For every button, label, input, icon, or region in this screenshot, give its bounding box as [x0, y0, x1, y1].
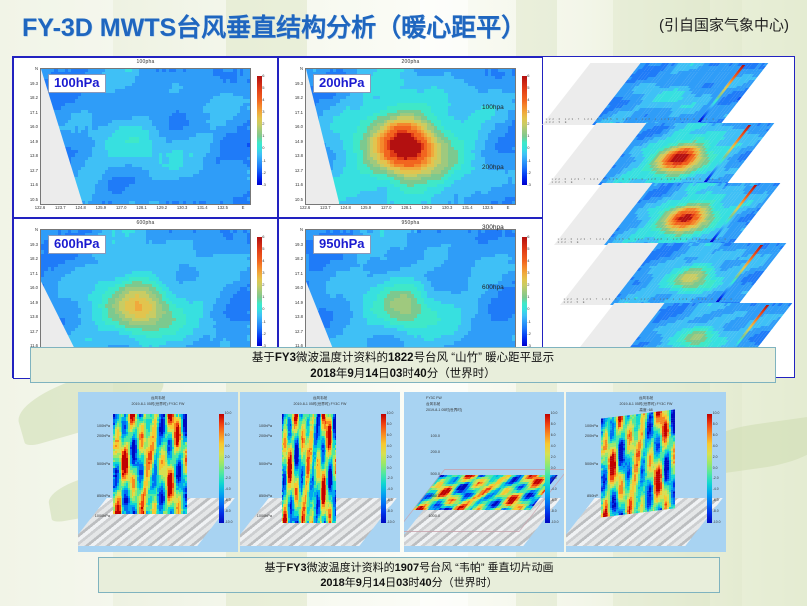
panel-colorbar-tick: 2.0 — [225, 455, 230, 459]
stack-level-label: 100hpa — [482, 104, 504, 111]
y-axis-tick: 16.0 — [281, 285, 303, 290]
data-slice-sheet — [282, 414, 336, 523]
panel-heading-line: FY3C FW — [426, 396, 564, 401]
y-axis-tick: N — [281, 66, 303, 71]
colorbar-tick: -1 — [527, 158, 531, 163]
panel-colorbar-tick: -4.0 — [387, 487, 393, 491]
y-axis-tick: 12.7 — [16, 168, 38, 173]
panel-colorbar-tick: 0.0 — [387, 466, 392, 470]
data-slice-sheet — [113, 414, 187, 513]
page-title: FY-3D MWTS台风垂直结构分析（暖心距平） — [22, 8, 526, 44]
x-axis-tick: 125.9 — [92, 205, 110, 210]
colorbar-tick: 2 — [262, 121, 264, 126]
pressure-level-label: 200hPa — [568, 434, 598, 438]
panel-colorbar-tick: 10.0 — [551, 411, 558, 415]
y-axis-tick: 19.3 — [16, 242, 38, 247]
panel-colorbar-tick: -10.0 — [225, 520, 233, 524]
colorbar-tick: -2 — [527, 170, 531, 175]
caption-emph: 9 — [347, 368, 353, 380]
level-label-100hpa: 100hPa — [48, 74, 106, 93]
colorbar-tick: 1 — [527, 133, 529, 138]
panel-colorbar-tick: 4.0 — [551, 444, 556, 448]
y-axis-tick: 18.2 — [16, 95, 38, 100]
colorbar-gradient — [257, 76, 262, 185]
x-axis-tick: 131.4 — [193, 205, 211, 210]
colorbar-tick: 2 — [262, 282, 264, 287]
y-axis-tick: 14.9 — [281, 300, 303, 305]
caption-line-1: 基于FY3微波温度计资料的1822号台风 “山竹” 暖心距平显示 — [31, 351, 775, 367]
colorbar-tick: 6 — [527, 234, 529, 239]
caption-emph: 14 — [365, 368, 378, 380]
colorbar-tick: 5 — [262, 246, 264, 251]
pressure-level-label: 500hPa — [80, 462, 110, 466]
panel-colorbar-tick: 0.0 — [713, 466, 718, 470]
panel-heading-line: 台风韦帕 — [78, 396, 238, 401]
level-slab-2: 122.6 123.7 124.8 125.9 127.0 128.1 129.… — [554, 183, 732, 245]
panel-colorbar-tick: 0.0 — [551, 466, 556, 470]
panel-colorbar-tick: -10.0 — [551, 520, 559, 524]
stacked-3d-levels: 122.6 123.7 124.8 125.9 127.0 128.1 129.… — [534, 59, 792, 375]
x-axis-tick: 132.5 — [479, 205, 497, 210]
y-axis-tick: N — [281, 227, 303, 232]
caption-text: 号台风 “韦帕” 垂直切片动画 — [419, 562, 553, 574]
panel-colorbar-tick: 10.0 — [225, 411, 232, 415]
stack-level-label: 300hpa — [482, 224, 504, 231]
panel-colorbar-tick: -6.0 — [713, 498, 719, 502]
panel-heading-line: 2019-8-1 05时(世界时) FY3C FW — [566, 402, 726, 407]
panel-colorbar-tick: -10.0 — [713, 520, 721, 524]
pressure-level-label: 100hPa — [242, 424, 272, 428]
panel-colorbar: 10.08.06.04.02.00.0-2.0-4.0-6.0-8.0-10.0 — [545, 414, 550, 523]
panel-heading-line: 台风韦帕 — [426, 402, 564, 407]
y-axis-tick: 19.3 — [281, 242, 303, 247]
caption-line-2: 2018年9月14日03时40分（世界时） — [99, 576, 719, 591]
colorbar-tick: -2 — [262, 331, 266, 336]
level-label-600hpa: 600hPa — [48, 235, 106, 254]
panel-colorbar-tick: -6.0 — [551, 498, 557, 502]
pressure-level-label: 200hPa — [80, 434, 110, 438]
colorbar-tick: 0 — [527, 145, 529, 150]
vertical-slice-panel-4: 台风韦帕2019-8-1 05时(世界时) FY3C FW高度: 68100hP… — [566, 392, 726, 552]
panel-colorbar-tick: 6.0 — [551, 433, 556, 437]
panel-colorbar-tick: 6.0 — [387, 433, 392, 437]
x-axis-tick: 123.7 — [316, 205, 334, 210]
x-axis-tick: 127.0 — [377, 205, 395, 210]
y-axis-tick: 18.2 — [281, 95, 303, 100]
y-axis-tick: 17.1 — [281, 271, 303, 276]
caption-emph: 03 — [390, 368, 403, 380]
colorbar-tick: 5 — [262, 85, 264, 90]
colorbar-tick: 4 — [262, 97, 264, 102]
y-axis-tick: 17.1 — [281, 110, 303, 115]
stack-level-label: 200hpa — [482, 164, 504, 171]
y-axis-tick: 16.0 — [16, 285, 38, 290]
x-axis-tick: 130.3 — [173, 205, 191, 210]
panel-colorbar-tick: 8.0 — [713, 422, 718, 426]
y-axis-tick: 13.8 — [16, 314, 38, 319]
panel-colorbar: 10.08.06.04.02.00.0-2.0-4.0-6.0-8.0-10.0 — [707, 414, 712, 523]
panel-colorbar-tick: -6.0 — [387, 498, 393, 502]
x-axis-tick: 129.2 — [418, 205, 436, 210]
caption-emph: 14 — [373, 577, 385, 589]
x-axis-tick: 130.3 — [438, 205, 456, 210]
panel-colorbar-tick: -4.0 — [551, 487, 557, 491]
y-axis-tick: 18.2 — [16, 256, 38, 261]
caption-emph: 03 — [396, 577, 408, 589]
x-axis-tick: 124.8 — [72, 205, 90, 210]
x-axis-tick: 125.9 — [357, 205, 375, 210]
header: FY-3D MWTS台风垂直结构分析（暖心距平） (引自国家气象中心) — [0, 0, 807, 52]
colorbar: 6543210-1-2-3 — [257, 237, 262, 346]
panel-colorbar-tick: -2.0 — [551, 476, 557, 480]
y-axis-tick: 17.1 — [16, 271, 38, 276]
pressure-level-label: 100hPa — [568, 424, 598, 428]
y-axis-tick: 13.8 — [16, 153, 38, 158]
colorbar-gradient — [257, 237, 262, 346]
caption-text: （世界时） — [443, 577, 498, 589]
y-axis-tick: 10.5 — [16, 197, 38, 202]
panel-colorbar-tick: -6.0 — [225, 498, 231, 502]
colorbar: 6543210-1-2-3 — [257, 76, 262, 185]
x-axis-tick: 132.5 — [214, 205, 232, 210]
pressure-level-label: 850hPa — [80, 494, 110, 498]
panel-colorbar-tick: 4.0 — [713, 444, 718, 448]
caption-emph: 1907 — [395, 562, 419, 574]
caption-emph: 2018 — [320, 577, 344, 589]
data-slice-sheet — [601, 410, 675, 518]
colorbar-tick: 3 — [262, 270, 264, 275]
panel-colorbar-tick: 10.0 — [713, 411, 720, 415]
level-slab-1: 122.6 123.7 124.8 125.9 127.0 128.1 129.… — [548, 123, 726, 185]
pressure-level-label: 500hPa — [568, 462, 598, 466]
pressure-level-label: 500hPa — [242, 462, 272, 466]
y-axis-tick: 19.3 — [281, 81, 303, 86]
panel-chart-title: 600pha — [14, 220, 277, 226]
y-axis-tick: N — [16, 227, 38, 232]
x-axis-tick: 129.2 — [153, 205, 171, 210]
x-axis-tick: E — [499, 205, 517, 210]
y-axis-tick: 14.9 — [16, 139, 38, 144]
pressure-level-label: 1000hPa — [242, 514, 272, 518]
panel-chart-title: 200pha — [279, 59, 542, 65]
y-axis-tick: 12.7 — [281, 168, 303, 173]
colorbar: 6543210-1-2-3 — [522, 76, 527, 185]
y-axis-tick: 19.3 — [16, 81, 38, 86]
vertical-slice-panel-2: 台风韦帕2019-8-1 05时(世界时) FY3C FW100hPa200hP… — [240, 392, 400, 552]
colorbar-tick: 2 — [527, 121, 529, 126]
caption-text: 号台风 “山竹” 暖心距平显示 — [414, 352, 555, 364]
x-axis-tick: 127.0 — [112, 205, 130, 210]
panel-heading-line: 2019-8-1 05时(世界时) FY3C FW — [240, 402, 400, 407]
panel-colorbar-gradient — [219, 414, 224, 523]
colorbar-tick: -3 — [262, 182, 266, 187]
y-axis-tick: 16.0 — [16, 124, 38, 129]
pressure-level-label: 1000hPa — [80, 514, 110, 518]
stack-level-label: 600hpa — [482, 284, 504, 291]
panel-colorbar-tick: -2.0 — [225, 476, 231, 480]
panel-colorbar-tick: -8.0 — [551, 509, 557, 513]
colorbar-tick: 0 — [527, 306, 529, 311]
caption-line-1: 基于FY3微波温度计资料的1907号台风 “韦帕” 垂直切片动画 — [99, 561, 719, 576]
panel-heading-line: 2019-8-1 05时(世界时) FY3C FW — [78, 402, 238, 407]
y-axis-tick: 12.7 — [16, 329, 38, 334]
x-axis-tick: 128.1 — [398, 205, 416, 210]
x-axis-tick: 122.6 — [296, 205, 314, 210]
attribution-text: (引自国家气象中心) — [659, 14, 789, 35]
y-axis-tick: 12.7 — [281, 329, 303, 334]
panel-colorbar-tick: 4.0 — [225, 444, 230, 448]
top-figure-block: 100phaN19.318.217.116.014.913.812.711.61… — [12, 56, 795, 378]
panel-colorbar-tick: -2.0 — [387, 476, 393, 480]
caption-emph: 40 — [414, 368, 427, 380]
vertical-slice-panel-1: 台风韦帕2019-8-1 05时(世界时) FY3C FW100hPa200hP… — [78, 392, 238, 552]
colorbar-tick: 5 — [527, 246, 529, 251]
y-axis-tick: 14.9 — [281, 139, 303, 144]
level-label-200hpa: 200hPa — [313, 74, 371, 93]
colorbar-tick: 6 — [262, 73, 264, 78]
panel-colorbar-tick: -8.0 — [713, 509, 719, 513]
y-axis-tick: 14.9 — [16, 300, 38, 305]
colorbar-tick: 4 — [262, 258, 264, 263]
colorbar-tick: -1 — [262, 319, 266, 324]
panel-colorbar-tick: 8.0 — [387, 422, 392, 426]
caption-text: （世界时） — [438, 368, 496, 380]
colorbar-tick: -2 — [527, 331, 531, 336]
panel-chart-title: 100pha — [14, 59, 277, 65]
panel-colorbar-tick: 4.0 — [387, 444, 392, 448]
colorbar-tick: -2 — [262, 170, 266, 175]
caption-text: 微波温度计资料的 — [307, 562, 395, 574]
colorbar-tick: -1 — [527, 319, 531, 324]
panel-colorbar-tick: 2.0 — [551, 455, 556, 459]
caption-emph: FY3 — [286, 562, 306, 574]
panel-colorbar: 10.08.06.04.02.00.0-2.0-4.0-6.0-8.0-10.0 — [381, 414, 386, 523]
y-axis-tick: 13.8 — [281, 314, 303, 319]
level-slab-3: 122.6 123.7 124.8 125.9 127.0 128.1 129.… — [560, 243, 738, 305]
panel-heading-line: 台风韦帕 — [566, 396, 726, 401]
pressure-level-label: 850hPa — [242, 494, 272, 498]
colorbar-tick: 5 — [527, 85, 529, 90]
panel-colorbar-gradient — [707, 414, 712, 523]
panel-colorbar-tick: 0.0 — [225, 466, 230, 470]
y-axis-tick: 11.6 — [16, 182, 38, 187]
caption-emph: 9 — [356, 577, 362, 589]
panel-colorbar-tick: -4.0 — [225, 487, 231, 491]
panel-colorbar-tick: 8.0 — [225, 422, 230, 426]
pressure-level-label: 100hPa — [80, 424, 110, 428]
colorbar-tick: 3 — [262, 109, 264, 114]
x-axis-tick: 124.8 — [337, 205, 355, 210]
colorbar-tick: 6 — [527, 73, 529, 78]
contour-panel-100hpa: 100phaN19.318.217.116.014.913.812.711.61… — [13, 57, 278, 218]
y-axis-tick: 18.2 — [281, 256, 303, 261]
level-label-950hpa: 950hPa — [313, 235, 371, 254]
colorbar-tick: 2 — [527, 282, 529, 287]
colorbar-tick: -3 — [527, 182, 531, 187]
panel-colorbar-tick: -2.0 — [713, 476, 719, 480]
panel-colorbar-tick: -8.0 — [225, 509, 231, 513]
colorbar-tick: 4 — [527, 258, 529, 263]
y-axis-tick: 13.8 — [281, 153, 303, 158]
level-slab-0: 122.6 123.7 124.8 125.9 127.0 128.1 129.… — [542, 63, 720, 125]
panel-colorbar-gradient — [545, 414, 550, 523]
panel-colorbar-tick: 8.0 — [551, 422, 556, 426]
colorbar-gradient — [522, 76, 527, 185]
colorbar-tick: 6 — [262, 234, 264, 239]
panel-colorbar-tick: 6.0 — [225, 433, 230, 437]
panel-colorbar-tick: 10.0 — [387, 411, 394, 415]
colorbar-tick: 1 — [527, 294, 529, 299]
panel-colorbar: 10.08.06.04.02.00.0-2.0-4.0-6.0-8.0-10.0 — [219, 414, 224, 523]
panel-colorbar-tick: -4.0 — [713, 487, 719, 491]
caption-emph: 1822 — [388, 352, 414, 364]
panel-colorbar-tick: -10.0 — [387, 520, 395, 524]
x-axis-tick: 131.4 — [458, 205, 476, 210]
panel-colorbar-tick: 2.0 — [387, 455, 392, 459]
colorbar-gradient — [522, 237, 527, 346]
caption-text: 基于 — [264, 562, 286, 574]
colorbar-tick: 0 — [262, 306, 264, 311]
pressure-level-label: 850hP — [568, 494, 598, 498]
pressure-level-label: 850.0 — [406, 494, 440, 498]
colorbar-tick: 3 — [527, 109, 529, 114]
pressure-level-label: 500.0 — [406, 472, 440, 476]
panel-colorbar-gradient — [381, 414, 386, 523]
caption-top: 基于FY3微波温度计资料的1822号台风 “山竹” 暖心距平显示2018年9月1… — [30, 347, 776, 383]
vertical-slice-panel-3: FY3C FW台风韦帕2019-8-1 05时(世界时)100.0200.050… — [404, 392, 564, 552]
y-axis-tick: 17.1 — [16, 110, 38, 115]
panel-heading-line: 台风韦帕 — [240, 396, 400, 401]
pressure-level-label: 100.0 — [406, 434, 440, 438]
caption-text: 基于 — [252, 352, 275, 364]
caption-text: 微波温度计资料的 — [296, 352, 388, 364]
x-axis-tick: E — [234, 205, 252, 210]
x-axis-tick: 128.1 — [133, 205, 151, 210]
contour-panel-200hpa: 200phaN19.318.217.116.014.913.812.711.61… — [278, 57, 543, 218]
pressure-level-label: 200.0 — [406, 450, 440, 454]
colorbar-tick: 3 — [527, 270, 529, 275]
colorbar-tick: 1 — [262, 294, 264, 299]
colorbar: 6543210-1-2-3 — [522, 237, 527, 346]
x-axis-tick: 123.7 — [51, 205, 69, 210]
colorbar-tick: 0 — [262, 145, 264, 150]
colorbar-tick: 1 — [262, 133, 264, 138]
colorbar-tick: -1 — [262, 158, 266, 163]
panel-colorbar-tick: 6.0 — [713, 433, 718, 437]
pressure-level-label: 1000.0 — [406, 514, 440, 518]
y-axis-tick: 11.6 — [281, 182, 303, 187]
colorbar-tick: 4 — [527, 97, 529, 102]
caption-emph: 2018 — [310, 368, 336, 380]
caption-emph: 40 — [419, 577, 431, 589]
panel-heading-line: 2019-8-1 05时(世界时) — [426, 408, 564, 413]
y-axis-tick: 16.0 — [281, 124, 303, 129]
pressure-level-label: 200hPa — [242, 434, 272, 438]
x-axis-tick: 122.6 — [31, 205, 49, 210]
panel-colorbar-tick: 2.0 — [713, 455, 718, 459]
caption-line-2: 2018年9月14日03时40分（世界时） — [31, 367, 775, 383]
caption-bottom: 基于FY3微波温度计资料的1907号台风 “韦帕” 垂直切片动画2018年9月1… — [98, 557, 720, 593]
panel-colorbar-tick: -8.0 — [387, 509, 393, 513]
caption-emph: FY3 — [275, 352, 296, 364]
y-axis-tick: N — [16, 66, 38, 71]
y-axis-tick: 10.5 — [281, 197, 303, 202]
